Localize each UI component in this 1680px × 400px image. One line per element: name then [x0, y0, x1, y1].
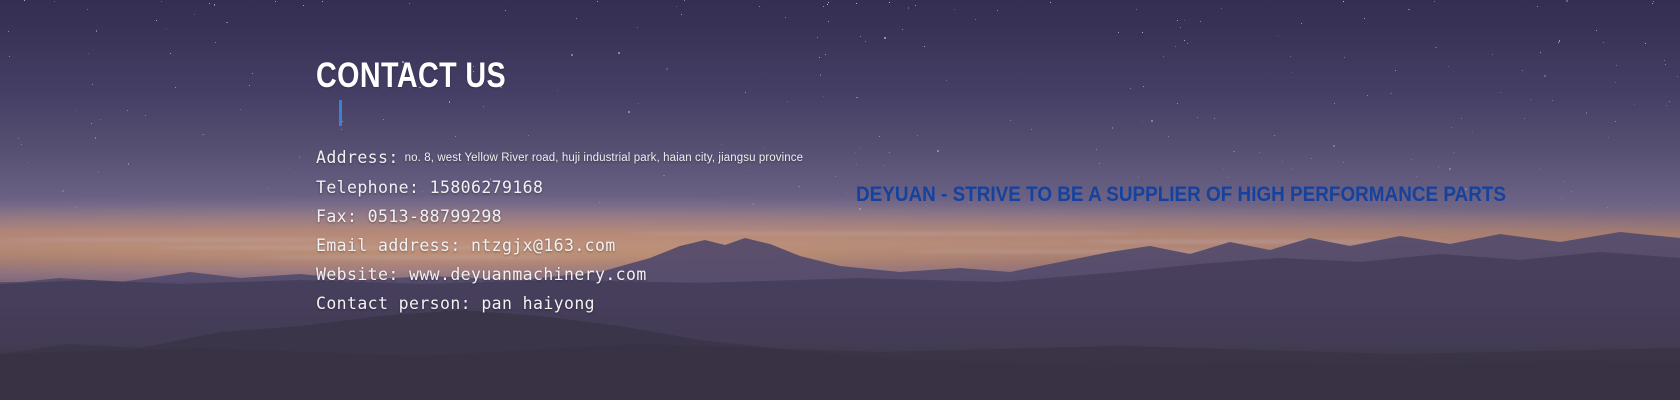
fax-row: Fax: 0513-88799298	[316, 202, 803, 231]
accent-divider	[339, 100, 342, 126]
company-tagline: DEYUAN - STRIVE TO BE A SUPPLIER OF HIGH…	[856, 183, 1506, 206]
page-title: CONTACT US	[316, 58, 506, 93]
telephone-row: Telephone: 15806279168	[316, 173, 803, 202]
contact-banner: CONTACT US Address:no. 8, west Yellow Ri…	[0, 0, 1680, 400]
contact-details-list: Address:no. 8, west Yellow River road, h…	[316, 143, 803, 318]
address-row: Address:no. 8, west Yellow River road, h…	[316, 143, 803, 173]
address-value: no. 8, west Yellow River road, huji indu…	[399, 152, 803, 164]
website-row[interactable]: Website: www.deyuanmachinery.com	[316, 260, 803, 289]
contact-person-row: Contact person: pan haiyong	[316, 289, 803, 318]
address-label: Address:	[316, 148, 399, 167]
email-row[interactable]: Email address: ntzgjx@163.com	[316, 231, 803, 260]
